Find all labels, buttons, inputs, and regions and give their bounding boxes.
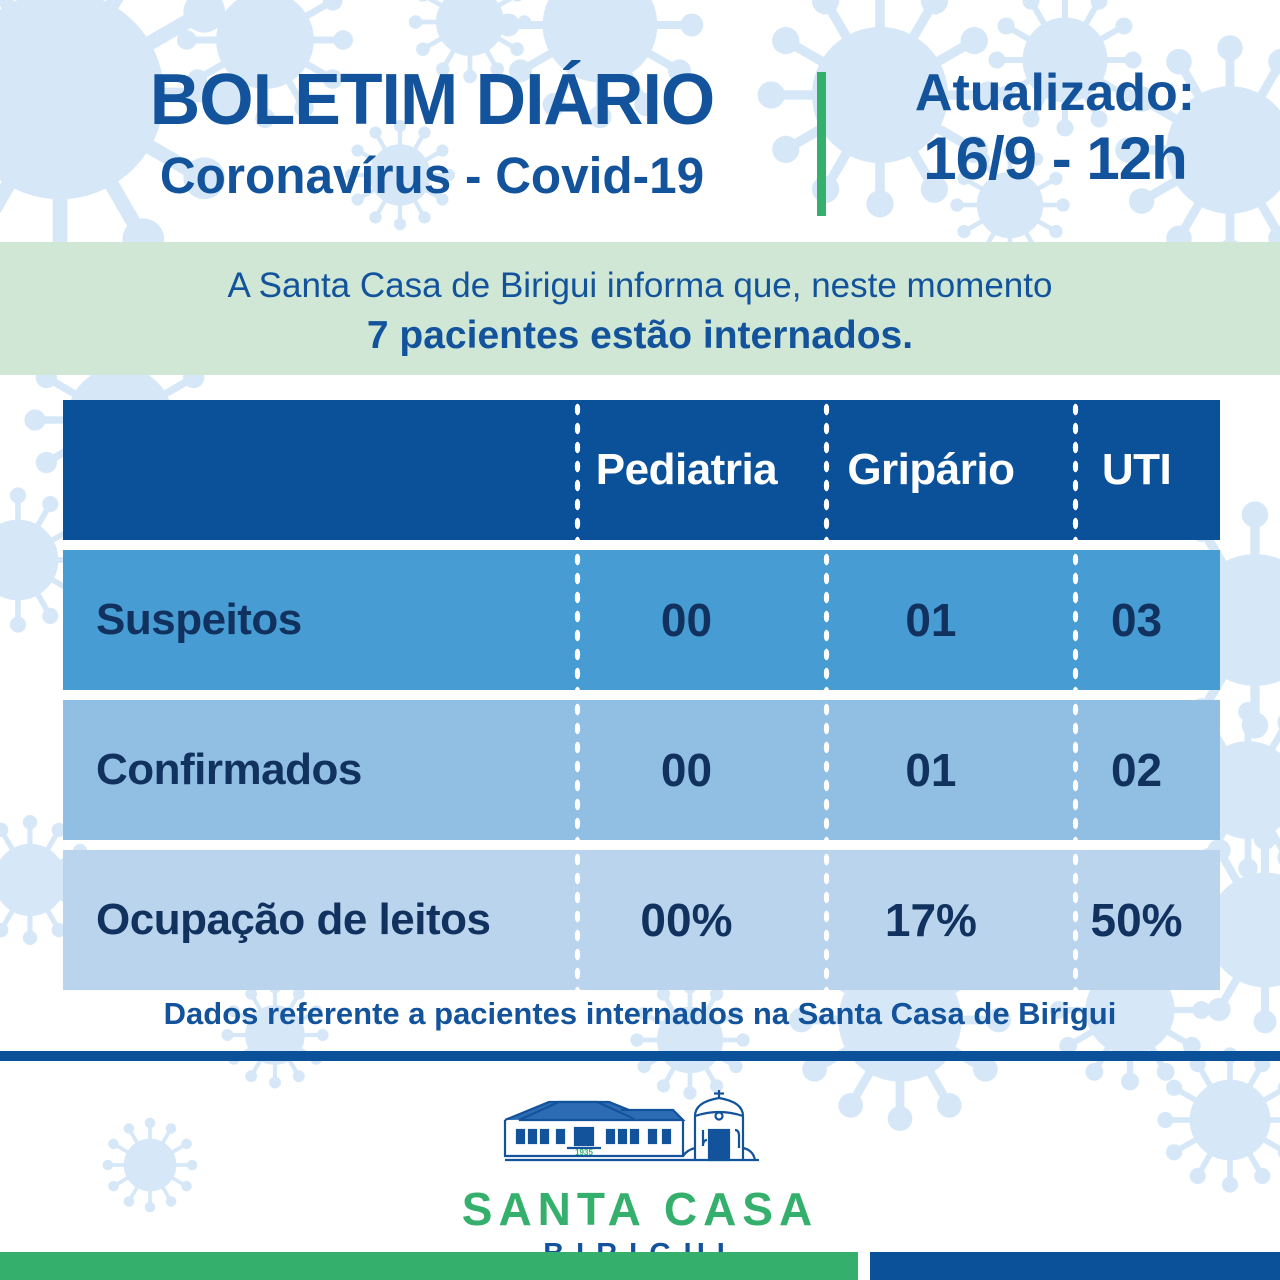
column-divider-2 bbox=[822, 400, 831, 540]
column-header-uti: UTI bbox=[1102, 445, 1171, 494]
page-title: BOLETIM DIÁRIO bbox=[73, 64, 791, 136]
column-divider-2 bbox=[822, 850, 831, 990]
occupancy-table: Pediatria Gripário UTI Suspeitos 00 01 0… bbox=[63, 400, 1220, 990]
row-label-ocupacao: Ocupação de leitos bbox=[96, 895, 490, 944]
column-divider-2 bbox=[822, 700, 831, 840]
column-divider-3 bbox=[1071, 400, 1080, 540]
column-divider-3 bbox=[1071, 850, 1080, 990]
header: BOLETIM DIÁRIO Coronavírus - Covid-19 At… bbox=[0, 0, 1280, 242]
row-label-suspeitos: Suspeitos bbox=[96, 595, 302, 644]
santa-casa-logo: 1935 bbox=[0, 1090, 1280, 1269]
cell-suspeitos-gripario: 01 bbox=[905, 594, 956, 646]
bottom-bar-green bbox=[0, 1252, 858, 1280]
column-header-pediatria: Pediatria bbox=[596, 445, 777, 494]
page-subtitle: Coronavírus - Covid-19 bbox=[73, 150, 791, 201]
bulletin-poster: BOLETIM DIÁRIO Coronavírus - Covid-19 At… bbox=[0, 0, 1280, 1280]
cell-suspeitos-pediatria: 00 bbox=[661, 594, 712, 646]
column-divider-1 bbox=[573, 400, 582, 540]
cell-confirmados-uti: 02 bbox=[1111, 744, 1162, 796]
hospital-building-icon: 1935 bbox=[497, 1090, 783, 1182]
cell-suspeitos-uti: 03 bbox=[1111, 594, 1162, 646]
updated-value: 16/9 - 12h bbox=[845, 127, 1265, 192]
column-divider-1 bbox=[573, 700, 582, 840]
banner-line-1: A Santa Casa de Birigui informa que, nes… bbox=[0, 266, 1280, 306]
column-divider-1 bbox=[573, 550, 582, 690]
table-row: Ocupação de leitos 00% 17% 50% bbox=[63, 850, 1220, 990]
table-header-row: Pediatria Gripário UTI bbox=[63, 400, 1220, 540]
cell-ocupacao-gripario: 17% bbox=[885, 894, 977, 946]
column-divider-1 bbox=[573, 850, 582, 990]
header-divider bbox=[817, 72, 826, 216]
info-banner: A Santa Casa de Birigui informa que, nes… bbox=[0, 242, 1280, 375]
footnote-text: Dados referente a pacientes internados n… bbox=[164, 996, 1117, 1031]
footnote: Dados referente a pacientes internados n… bbox=[0, 996, 1280, 1032]
column-divider-3 bbox=[1071, 550, 1080, 690]
table-row: Confirmados 00 01 02 bbox=[63, 700, 1220, 840]
row-label-confirmados: Confirmados bbox=[96, 745, 362, 794]
table-row: Suspeitos 00 01 03 bbox=[63, 550, 1220, 690]
cell-confirmados-pediatria: 00 bbox=[661, 744, 712, 796]
cell-ocupacao-uti: 50% bbox=[1091, 894, 1183, 946]
logo-name: SANTA CASA bbox=[0, 1186, 1280, 1232]
column-divider-2 bbox=[822, 550, 831, 690]
updated-label: Atualizado: bbox=[845, 66, 1265, 121]
column-divider-3 bbox=[1071, 700, 1080, 840]
logo-year: 1935 bbox=[575, 1148, 593, 1157]
banner-line-2: 7 pacientes estão internados. bbox=[0, 314, 1280, 359]
column-header-gripario: Gripário bbox=[847, 445, 1014, 494]
cell-ocupacao-pediatria: 00% bbox=[640, 894, 732, 946]
footer-rule bbox=[0, 1051, 1280, 1061]
header-title-block: BOLETIM DIÁRIO Coronavírus - Covid-19 bbox=[62, 64, 802, 201]
header-updated-block: Atualizado: 16/9 - 12h bbox=[845, 66, 1265, 191]
cell-confirmados-gripario: 01 bbox=[905, 744, 956, 796]
bottom-bar-blue bbox=[870, 1252, 1280, 1280]
